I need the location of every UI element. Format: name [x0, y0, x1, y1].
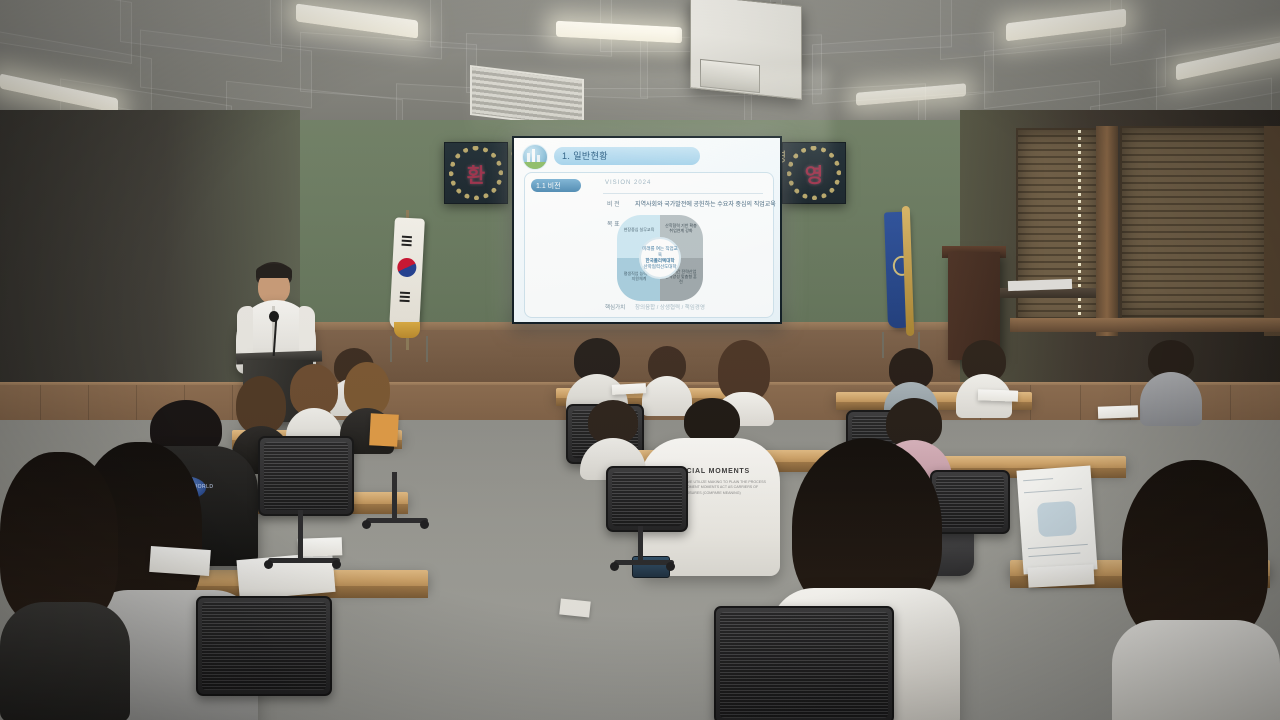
student-center-back: [566, 338, 628, 408]
wreath-icon: 영: [787, 146, 841, 200]
welcome-banner-left: 환: [444, 142, 508, 204]
desk-paper: [369, 413, 399, 446]
handout-paper[interactable]: [1016, 466, 1097, 575]
center-text-top: 미래를 여는 직업교육: [642, 246, 678, 257]
projection-screen: 1. 일반현황 1.1 비전 VISION 2024 비 전 지역사회와 국가발…: [512, 136, 782, 324]
banner-char-left: 환: [467, 159, 485, 188]
lecture-hall-scene: 환 영 열 영 1. 일반현황 1.1 비전 VISION 2024 비 전 지…: [0, 0, 1280, 720]
desk-paper[interactable]: [149, 546, 211, 576]
slide-footer-label: 핵심가치: [605, 303, 625, 311]
student-mid-left: [580, 400, 646, 472]
desk-paper[interactable]: [298, 537, 343, 557]
slide-title: 1. 일반현황: [562, 149, 608, 162]
slide-footer-text: 창의융합 / 상생협력 / 책임경영: [635, 303, 705, 311]
quadrant-label-tl: 현장중심 실무교육: [622, 227, 656, 232]
slide-row1-label: 비 전: [607, 199, 620, 208]
slide-row1-text: 지역사회와 국가발전에 공헌하는 수요자 중심의 직업교육: [635, 199, 776, 208]
window-blinds-left: [1016, 128, 1102, 328]
desk-paper: [612, 383, 646, 395]
chair[interactable]: [196, 596, 332, 696]
window-frame-edge: [1264, 126, 1280, 336]
desk-paper: [559, 598, 591, 617]
microphone-icon: [269, 311, 279, 322]
slide-body: 1.1 비전 VISION 2024 비 전 지역사회와 국가발전에 공헌하는 …: [524, 172, 774, 318]
wreath-icon: 환: [449, 146, 503, 200]
welcome-banner-right: 영: [782, 142, 846, 204]
institution-flag: [884, 212, 914, 346]
chair[interactable]: [714, 606, 894, 720]
quadrant-label-tr: 산학협력 기반 확충 취업연계 강화: [664, 223, 698, 233]
chair[interactable]: [606, 466, 688, 532]
slide-vision-label: VISION 2024: [605, 180, 651, 186]
slide-logo-icon: [522, 144, 548, 170]
window-blinds-right: [1120, 126, 1270, 320]
desk-paper: [978, 389, 1018, 401]
presentation-slide: 1. 일반현황 1.1 비전 VISION 2024 비 전 지역사회와 국가발…: [514, 138, 780, 322]
taeguk-symbol-icon: [394, 255, 419, 280]
desk-paper: [1098, 405, 1138, 418]
desk-paper[interactable]: [1028, 564, 1095, 587]
chair[interactable]: [258, 436, 354, 516]
center-text-sub: 산학협력선도대학: [643, 264, 676, 269]
student-left-row1-b: [286, 364, 342, 444]
student-far-right-back: [1140, 340, 1202, 424]
diagram-center: 미래를 여는 직업교육 한국폴리텍대학 산학협력선도대학: [639, 237, 681, 279]
center-text-main: 한국폴리텍대학: [646, 258, 675, 263]
student-far-left-front: [0, 452, 130, 720]
student-far-right-front: [1112, 460, 1280, 720]
slide-divider: [603, 193, 763, 194]
window-mullion: [1096, 126, 1118, 336]
slide-quadrant-diagram: 현장중심 실무교육 산학협력 기반 확충 취업연계 강화 평생직업 능력개발 지…: [617, 215, 703, 301]
korean-national-flag: [392, 218, 422, 346]
slide-section-tab-label: 1.1 비전: [536, 181, 561, 191]
window-sill: [1010, 318, 1280, 332]
banner-char-right: 영: [805, 159, 823, 188]
